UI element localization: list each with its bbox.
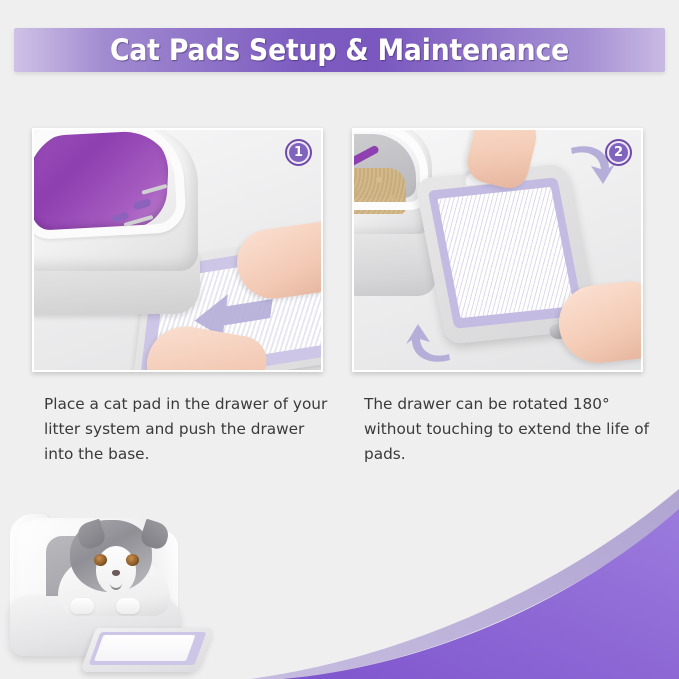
cat-mouth bbox=[110, 576, 122, 590]
step-badge-number-1: 1 bbox=[289, 143, 308, 162]
title-banner: Cat Pads Setup & Maintenance bbox=[14, 28, 665, 72]
cat-ear-right bbox=[139, 519, 172, 552]
step-caption-2: The drawer can be rotated 180° without t… bbox=[364, 392, 656, 467]
step-panel-2: 2 bbox=[352, 128, 643, 372]
drawer-lavender-inset-bottom bbox=[89, 632, 207, 665]
swoosh-band-light bbox=[250, 489, 679, 679]
cat-ear-left bbox=[75, 519, 108, 552]
page-title: Cat Pads Setup & Maintenance bbox=[110, 36, 569, 65]
cat-illustration bbox=[56, 514, 172, 614]
pad-drawer-bottom bbox=[80, 628, 214, 672]
cat-pad-bottom bbox=[94, 635, 195, 661]
step-badge-1: 1 bbox=[285, 139, 312, 166]
cat-paw-left bbox=[70, 598, 94, 614]
tray-lavender-inset-2 bbox=[428, 177, 584, 329]
litter-box-base-2 bbox=[352, 230, 436, 296]
steps-panel-row: 1 bbox=[0, 128, 679, 376]
litter-box-hood-1 bbox=[32, 128, 198, 271]
step-caption-1: Place a cat pad in the drawer of your li… bbox=[44, 392, 336, 467]
cat-paw-right bbox=[116, 598, 140, 614]
swoosh-band-main bbox=[282, 509, 679, 679]
step-badge-number-2: 2 bbox=[609, 143, 628, 162]
cat-eye-left bbox=[94, 554, 107, 566]
product-photo bbox=[4, 500, 236, 679]
cat-head bbox=[70, 520, 152, 592]
step-1-photo: 1 bbox=[34, 130, 321, 370]
step-badge-2: 2 bbox=[605, 139, 632, 166]
curved-arrow-counterclockwise-icon bbox=[406, 320, 452, 366]
step-2-photo: 2 bbox=[354, 130, 641, 370]
cat-pad-2 bbox=[437, 187, 574, 318]
cat-eye-right bbox=[126, 554, 139, 566]
step-panel-1: 1 bbox=[32, 128, 323, 372]
